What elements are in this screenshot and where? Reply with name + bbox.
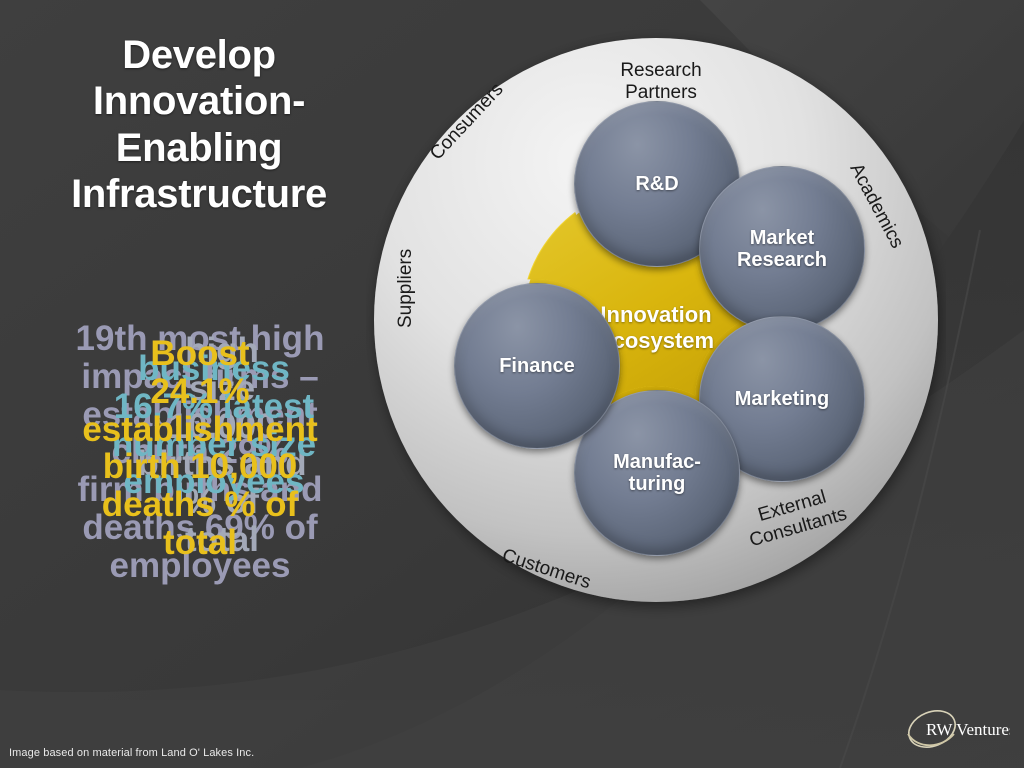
rim-label-line: Partners (581, 82, 741, 104)
node-label: Marketing (735, 388, 829, 410)
rim-label-suppliers: Suppliers (395, 249, 417, 328)
footer-credit: Image based on material from Land O' Lak… (9, 747, 254, 759)
stat-line: total (0, 524, 400, 562)
title-line-1: Develop (34, 32, 364, 78)
statistics-text-group: 19th most high impact firms – establishm… (0, 300, 400, 660)
stat-line: Boost (0, 335, 400, 373)
rim-label-research-partners: Research Partners (581, 60, 741, 104)
node-market-research[interactable]: Market Research (699, 166, 865, 332)
rim-label-line: Research (581, 60, 741, 82)
node-finance[interactable]: Finance (454, 283, 620, 449)
innovation-ecosystem-diagram: Innovation Ecosystem R&D Market Research… (366, 20, 946, 620)
stat-line: birth 10,000 (0, 448, 400, 486)
stat-line: 24.1% (0, 373, 400, 411)
title-line-3: Enabling (34, 125, 364, 171)
slide-title: Develop Innovation- Enabling Infrastruct… (34, 32, 364, 218)
stat-block-boost: Boost 24.1% establishment birth 10,000 d… (0, 335, 400, 562)
stat-line: deaths % of (0, 486, 400, 524)
rw-ventures-logo: RW Ventures (898, 704, 1010, 754)
node-label: Manufac- (613, 451, 701, 473)
title-line-4: Infrastructure (34, 171, 364, 217)
node-label: Finance (499, 355, 575, 377)
rim-label-line: Suppliers (395, 249, 416, 328)
node-label: Market (737, 227, 827, 249)
title-line-2: Innovation- (34, 78, 364, 124)
node-label: R&D (635, 173, 678, 195)
stat-line: establishment (0, 411, 400, 449)
node-label: turing (613, 473, 701, 495)
logo-text: RW Ventures (926, 720, 1010, 739)
node-label: Research (737, 249, 827, 271)
